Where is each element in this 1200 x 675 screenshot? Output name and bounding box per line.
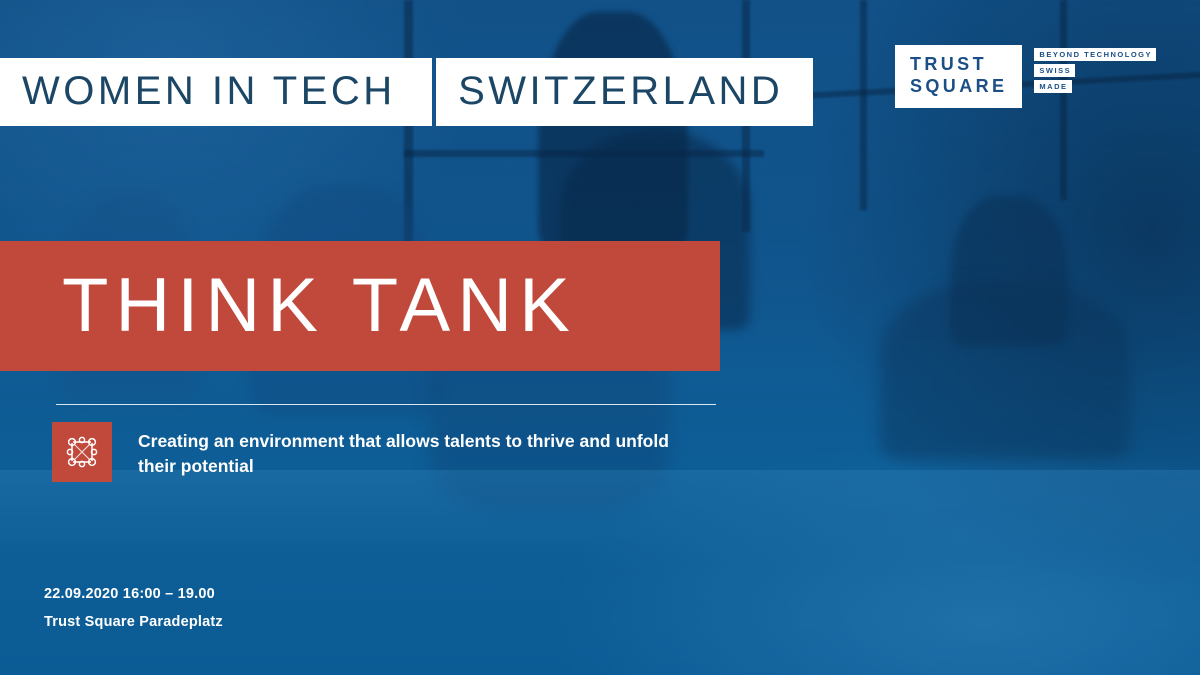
sponsor-logo-line-1: TRUST <box>910 54 1007 76</box>
sponsor-tagline-line-2: SWISS <box>1034 64 1075 77</box>
sponsor-logo-tagline: BEYOND TECHNOLOGY SWISS MADE <box>1034 45 1156 93</box>
organization-title-line-2: SWITZERLAND <box>436 58 813 126</box>
event-tagline: Creating an environment that allows tale… <box>138 422 683 480</box>
network-nodes-icon <box>52 422 112 482</box>
sponsor-logo: TRUST SQUARE BEYOND TECHNOLOGY SWISS MAD… <box>895 45 1156 108</box>
sponsor-logo-wordmark: TRUST SQUARE <box>895 45 1022 108</box>
event-poster: WOMEN IN TECH SWITZERLAND THINK TANK <box>0 0 1200 675</box>
sponsor-tagline-line-1: BEYOND TECHNOLOGY <box>1034 48 1156 61</box>
tagline-row: Creating an environment that allows tale… <box>52 422 683 482</box>
event-name-banner: THINK TANK <box>0 241 720 371</box>
event-name: THINK TANK <box>0 268 577 344</box>
organization-title-line-1: WOMEN IN TECH <box>0 58 432 126</box>
sponsor-tagline-line-3: MADE <box>1034 80 1071 93</box>
event-venue: Trust Square Paradeplatz <box>44 614 223 631</box>
event-details: 22.09.2020 16:00 – 19.00 Trust Square Pa… <box>44 586 223 632</box>
horizontal-divider <box>56 404 716 405</box>
event-datetime: 22.09.2020 16:00 – 19.00 <box>44 586 223 603</box>
organization-title: WOMEN IN TECH SWITZERLAND <box>0 43 813 126</box>
sponsor-logo-line-2: SQUARE <box>910 76 1007 98</box>
